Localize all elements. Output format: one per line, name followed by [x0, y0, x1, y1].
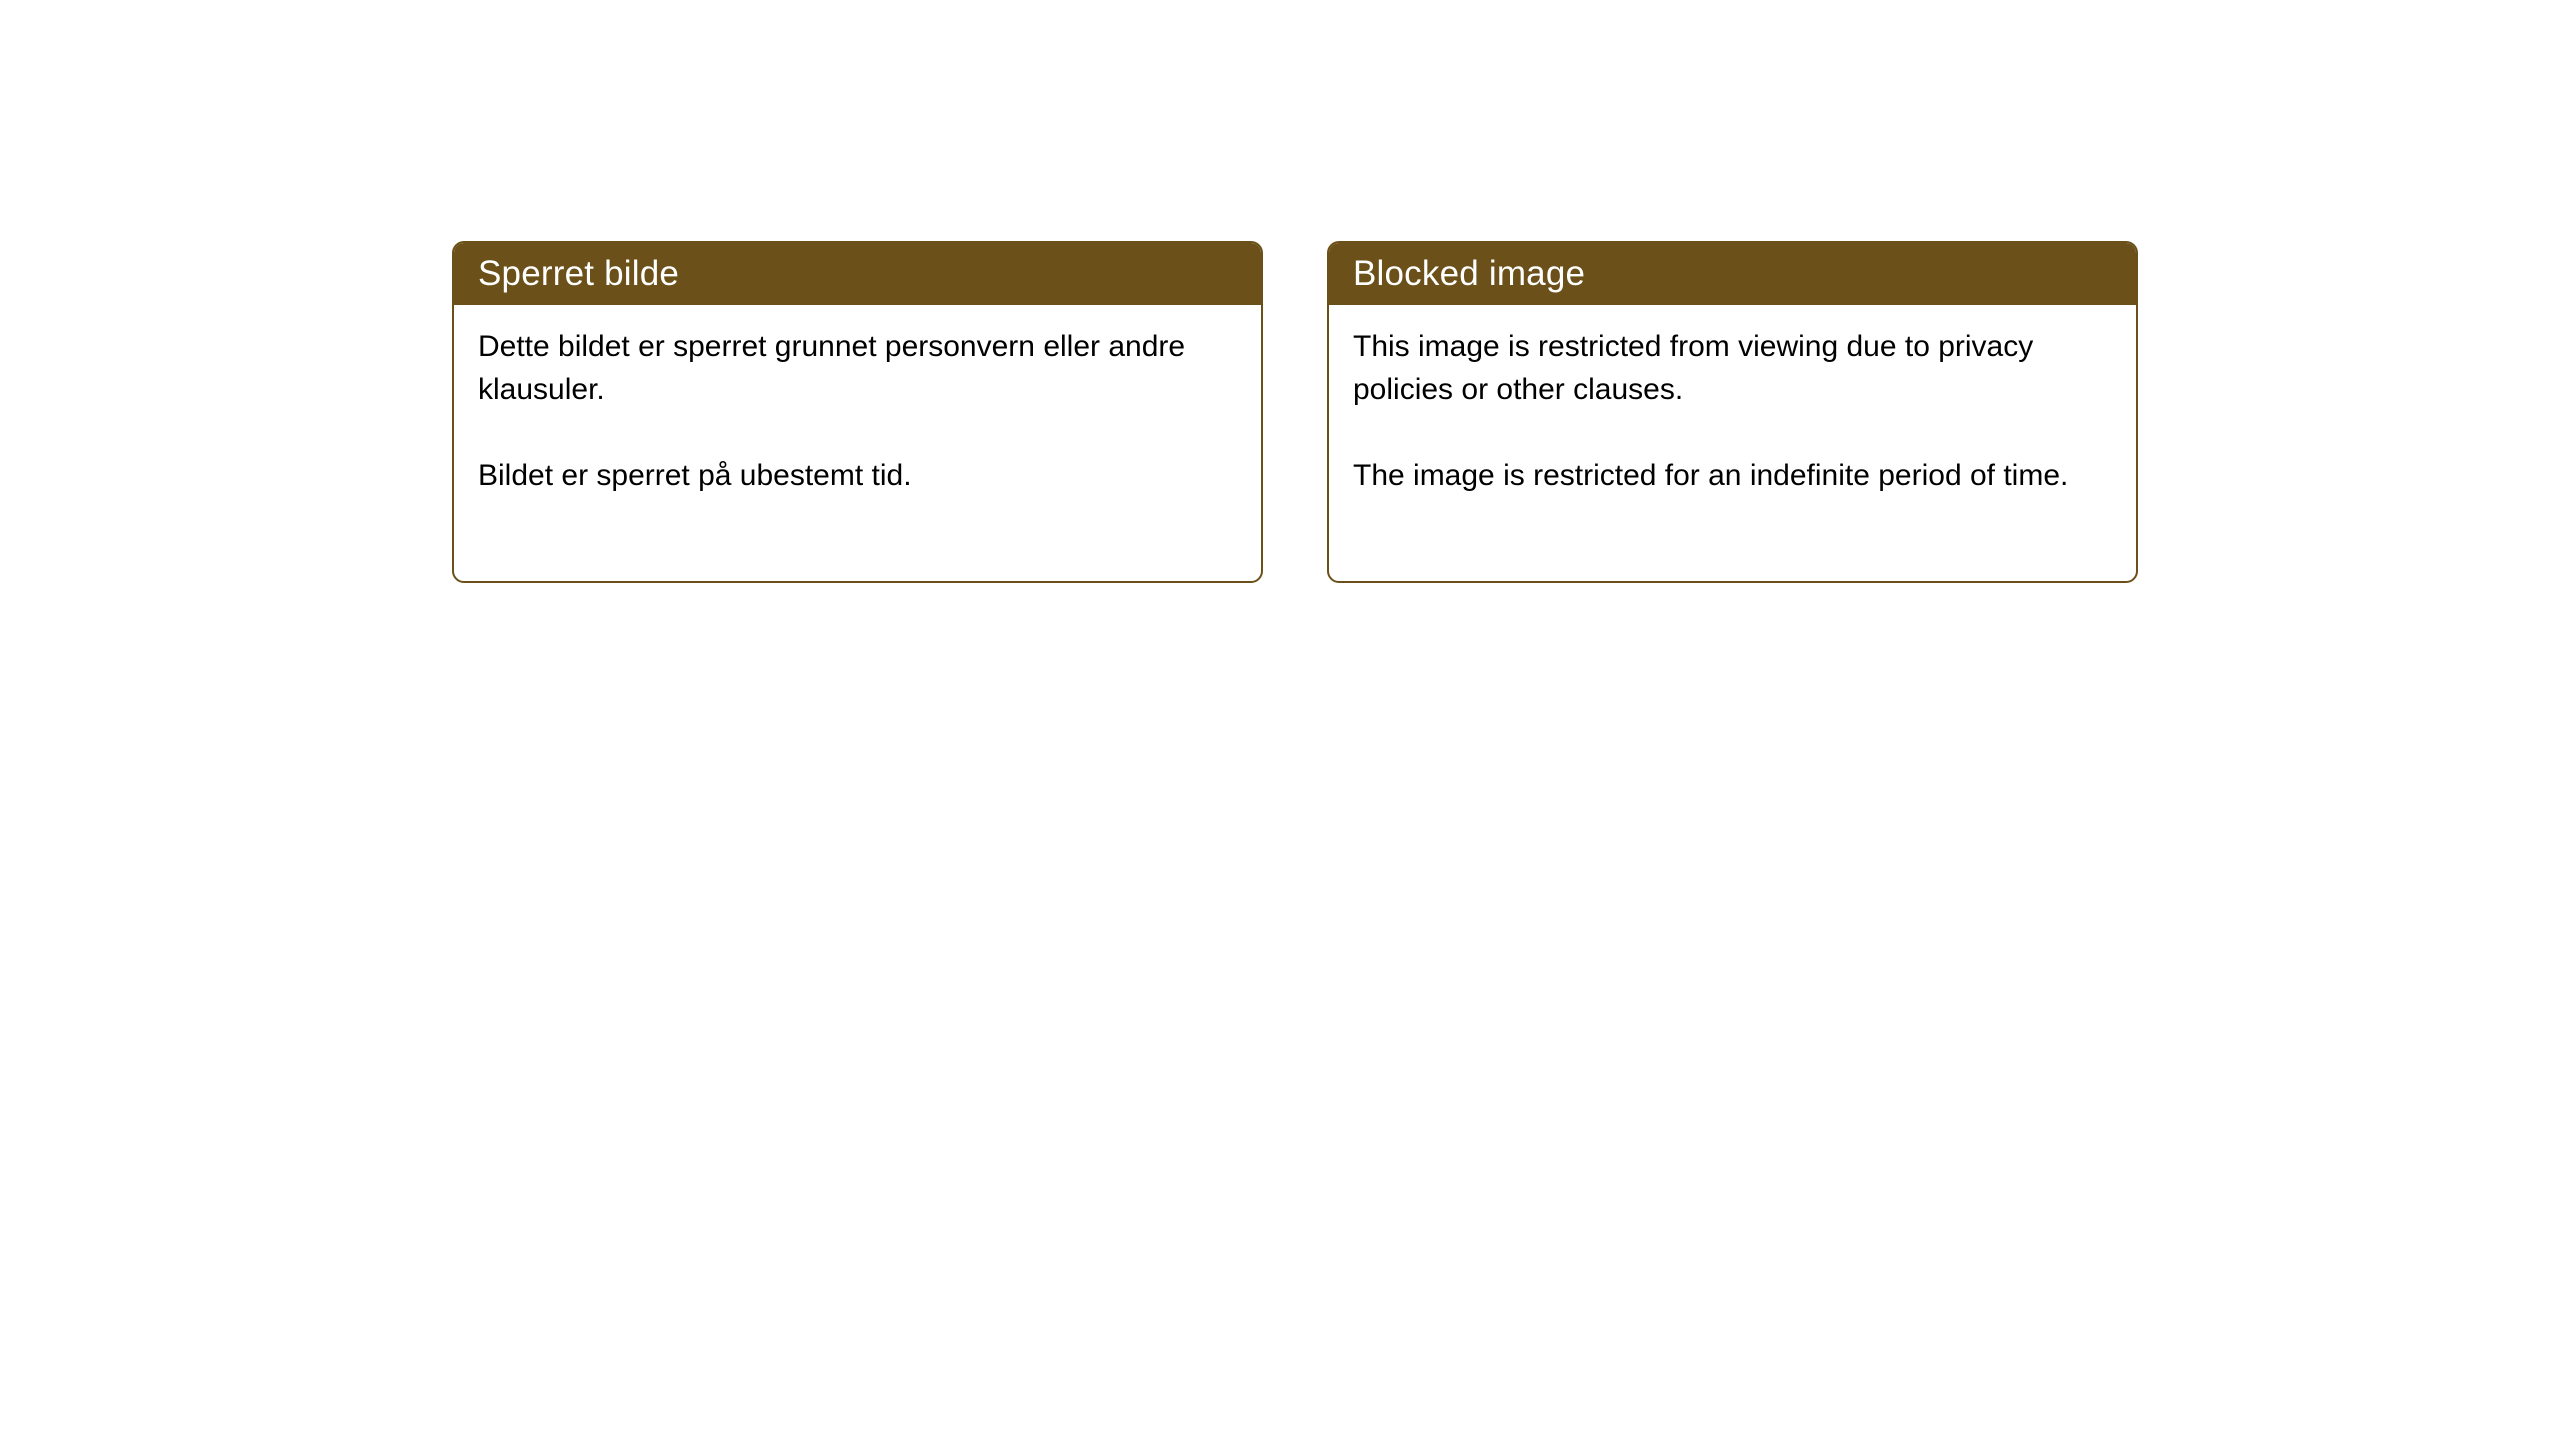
card-body-english: This image is restricted from viewing du… — [1329, 305, 2136, 497]
card-paragraph-secondary-norwegian: Bildet er sperret på ubestemt tid. — [478, 454, 1218, 497]
card-paragraph-primary-norwegian: Dette bildet er sperret grunnet personve… — [478, 325, 1218, 411]
card-title-norwegian: Sperret bilde — [478, 254, 679, 294]
blocked-image-notice-english: Blocked image This image is restricted f… — [1327, 241, 2138, 583]
card-paragraph-secondary-english: The image is restricted for an indefinit… — [1353, 454, 2093, 497]
card-paragraph-primary-english: This image is restricted from viewing du… — [1353, 325, 2093, 411]
card-header-english: Blocked image — [1329, 243, 2136, 305]
card-title-english: Blocked image — [1353, 254, 1585, 294]
card-body-norwegian: Dette bildet er sperret grunnet personve… — [454, 305, 1261, 497]
card-header-norwegian: Sperret bilde — [454, 243, 1261, 305]
blocked-image-notice-norwegian: Sperret bilde Dette bildet er sperret gr… — [452, 241, 1263, 583]
page-canvas: Sperret bilde Dette bildet er sperret gr… — [0, 0, 2560, 1440]
